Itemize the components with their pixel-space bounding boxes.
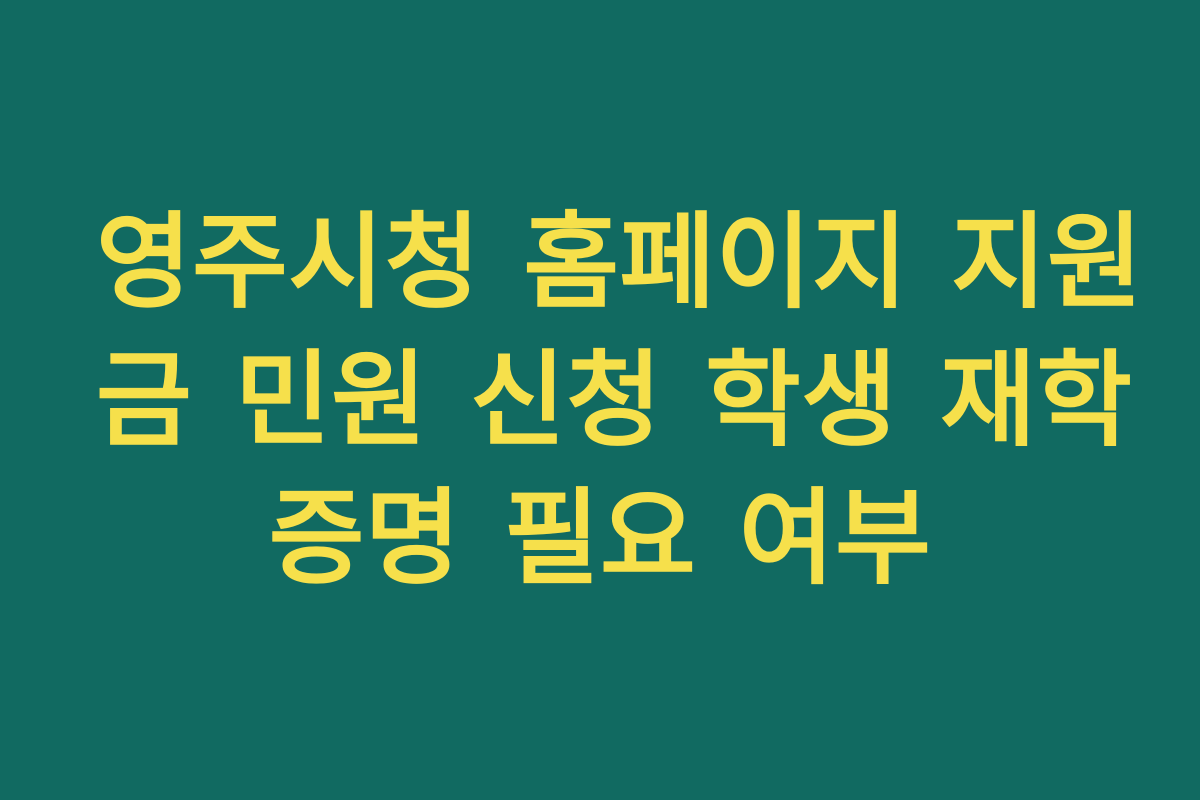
headline-line-2: 금 민원 신청 학생 재학 [96, 331, 1104, 469]
text-banner: 영주시청 홈페이지 지원 금 민원 신청 학생 재학 증명 필요 여부 [0, 0, 1200, 800]
headline-line-3: 증명 필요 여부 [96, 469, 1104, 607]
headline-line-1: 영주시청 홈페이지 지원 [96, 193, 1104, 331]
headline: 영주시청 홈페이지 지원 금 민원 신청 학생 재학 증명 필요 여부 [96, 193, 1104, 607]
